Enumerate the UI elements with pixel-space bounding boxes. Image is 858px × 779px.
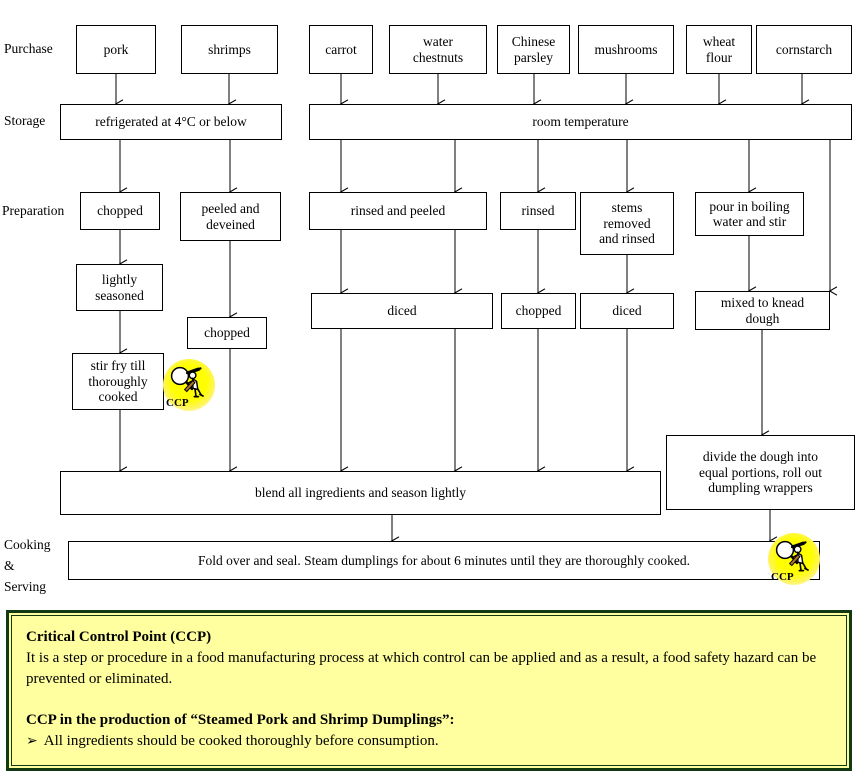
node-mixed-knead: mixed to kneaddough bbox=[695, 291, 830, 330]
stage-label-serving: Serving bbox=[4, 579, 46, 595]
legend-subtitle: CCP in the production of “Steamed Pork a… bbox=[26, 710, 832, 730]
bullet-arrow-icon: ➢ bbox=[26, 733, 44, 749]
node-mixed-knead-label: mixed to kneaddough bbox=[721, 295, 804, 326]
ccp-badge-steam: CCP bbox=[768, 533, 820, 585]
node-water-chestnuts: waterchestnuts bbox=[389, 25, 487, 74]
node-refrigerated-label: refrigerated at 4°C or below bbox=[95, 114, 247, 130]
legend-bullet-text: All ingredients should be cooked thoroug… bbox=[44, 733, 439, 749]
node-room-temperature: room temperature bbox=[309, 104, 852, 140]
node-rinsed-label: rinsed bbox=[522, 203, 555, 219]
ccp-badge-label: CCP bbox=[166, 397, 189, 409]
node-room-temperature-label: room temperature bbox=[532, 114, 628, 130]
node-carrot-label: carrot bbox=[325, 42, 356, 58]
node-wheat-flour-label: wheatflour bbox=[703, 34, 735, 65]
node-shrimps-label: shrimps bbox=[208, 42, 251, 58]
node-chopped-shrimp: chopped bbox=[187, 317, 267, 349]
stage-label-ampersand: & bbox=[4, 558, 15, 574]
node-chopped-shrimp-label: chopped bbox=[204, 325, 250, 341]
node-diced-mushrooms-label: diced bbox=[612, 303, 641, 319]
node-chopped-pork: chopped bbox=[80, 192, 160, 230]
node-cornstarch-label: cornstarch bbox=[776, 42, 832, 58]
node-peeled-deveined-label: peeled anddeveined bbox=[201, 201, 259, 232]
node-water-chestnuts-label: waterchestnuts bbox=[413, 34, 463, 65]
ccp-badge-stir-fry: CCP bbox=[163, 359, 215, 411]
node-chinese-parsley: Chineseparsley bbox=[497, 25, 570, 74]
node-mushrooms: mushrooms bbox=[578, 25, 674, 74]
node-shrimps: shrimps bbox=[181, 25, 278, 74]
node-blend-label: blend all ingredients and season lightly bbox=[255, 485, 466, 501]
node-carrot: carrot bbox=[309, 25, 373, 74]
node-pour-boiling: pour in boilingwater and stir bbox=[695, 192, 804, 236]
node-mushrooms-label: mushrooms bbox=[594, 42, 657, 58]
node-cooking-serving: Fold over and seal. Steam dumplings for … bbox=[68, 541, 820, 580]
node-lightly-seasoned: lightlyseasoned bbox=[76, 264, 163, 311]
node-rinsed-peeled-label: rinsed and peeled bbox=[351, 203, 445, 219]
legend-body: It is a step or procedure in a food manu… bbox=[26, 648, 832, 690]
node-divide-dough-label: divide the dough intoequal portions, rol… bbox=[699, 449, 822, 496]
node-peeled-deveined: peeled anddeveined bbox=[180, 192, 281, 241]
node-lightly-seasoned-label: lightlyseasoned bbox=[95, 272, 144, 303]
legend-bullet-item: ➢All ingredients should be cooked thorou… bbox=[26, 731, 832, 752]
node-pork: pork bbox=[76, 25, 156, 74]
legend-title: Critical Control Point (CCP) bbox=[26, 627, 832, 647]
node-stems-removed: stemsremovedand rinsed bbox=[580, 192, 674, 255]
node-rinsed-peeled: rinsed and peeled bbox=[309, 192, 487, 230]
node-divide-dough: divide the dough intoequal portions, rol… bbox=[666, 435, 855, 510]
stage-label-preparation: Preparation bbox=[2, 203, 64, 219]
node-chopped-pork-label: chopped bbox=[97, 203, 143, 219]
ccp-badge-label: CCP bbox=[771, 571, 794, 583]
node-pork-label: pork bbox=[104, 42, 129, 58]
node-diced-mushrooms: diced bbox=[580, 293, 674, 329]
stage-label-cooking: Cooking bbox=[4, 537, 51, 553]
node-stir-fry: stir fry tillthoroughlycooked bbox=[72, 353, 164, 410]
node-chinese-parsley-label: Chineseparsley bbox=[512, 34, 556, 65]
node-diced-carrot: diced bbox=[311, 293, 493, 329]
node-chopped-parsley-label: chopped bbox=[516, 303, 562, 319]
node-rinsed: rinsed bbox=[500, 192, 576, 230]
node-blend: blend all ingredients and season lightly bbox=[60, 471, 661, 515]
stage-label-storage: Storage bbox=[4, 113, 45, 129]
stage-label-purchase: Purchase bbox=[4, 41, 53, 57]
node-cornstarch: cornstarch bbox=[756, 25, 852, 74]
ccp-legend-inner: Critical Control Point (CCP) It is a ste… bbox=[11, 615, 847, 766]
node-cooking-serving-label: Fold over and seal. Steam dumplings for … bbox=[198, 553, 690, 569]
node-stir-fry-label: stir fry tillthoroughlycooked bbox=[88, 358, 147, 405]
node-refrigerated: refrigerated at 4°C or below bbox=[60, 104, 282, 140]
node-stems-removed-label: stemsremovedand rinsed bbox=[599, 200, 655, 247]
ccp-legend-box: Critical Control Point (CCP) It is a ste… bbox=[6, 610, 852, 771]
node-chopped-parsley: chopped bbox=[501, 293, 576, 329]
node-diced-carrot-label: diced bbox=[387, 303, 416, 319]
node-wheat-flour: wheatflour bbox=[686, 25, 752, 74]
node-pour-boiling-label: pour in boilingwater and stir bbox=[709, 199, 789, 230]
